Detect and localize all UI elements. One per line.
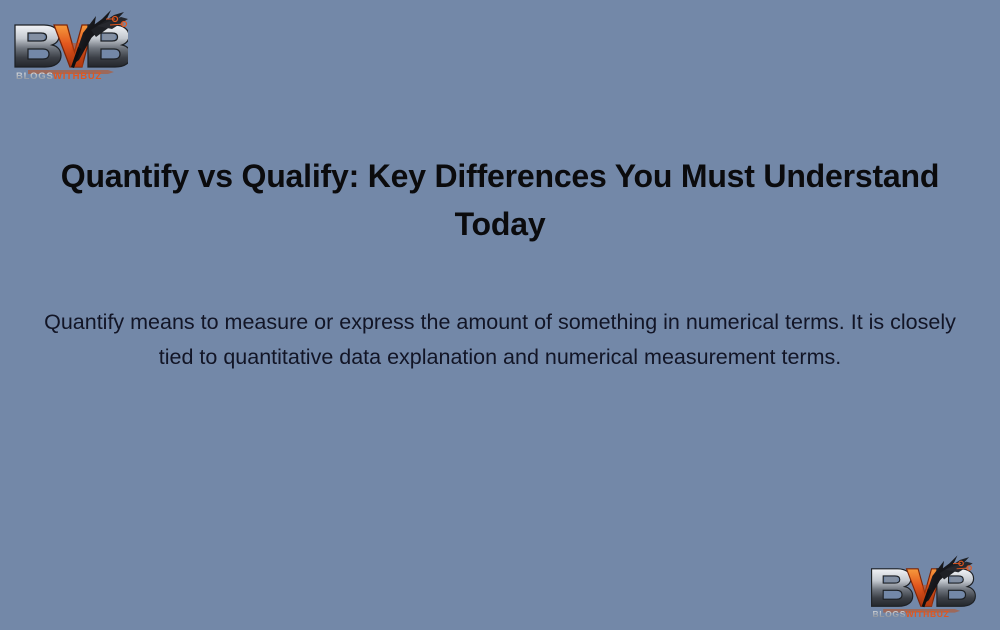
logo-wordmark: BLOGS WITHBUZ <box>16 71 102 80</box>
svg-text:BLOGS: BLOGS <box>872 609 906 618</box>
svg-text:BLOGS: BLOGS <box>16 71 54 80</box>
slide-canvas: BLOGS WITHBUZ Quantify vs Qualify: Key D… <box>0 0 1000 630</box>
logo-letter-b-left <box>15 25 61 67</box>
logo-wordmark: BLOGS WITHBUZ <box>872 609 949 618</box>
logo-letter-b-left <box>872 569 913 607</box>
slide-body-text: Quantify means to measure or express the… <box>30 305 970 375</box>
brand-logo-top: BLOGS WITHBUZ <box>8 4 128 80</box>
svg-text:WITHBUZ: WITHBUZ <box>53 71 102 80</box>
slide-title: Quantify vs Qualify: Key Differences You… <box>15 152 985 248</box>
brand-logo-bottom: BLOGS WITHBUZ <box>856 550 982 618</box>
svg-text:WITHBUZ: WITHBUZ <box>906 609 950 618</box>
